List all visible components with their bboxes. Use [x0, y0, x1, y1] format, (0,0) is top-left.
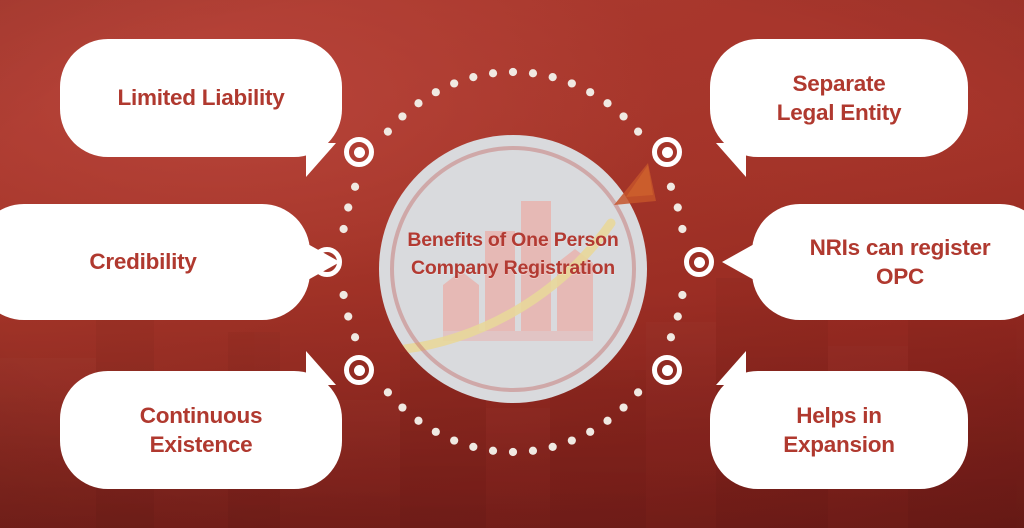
bubble-tail-left	[722, 243, 756, 281]
benefit-bubble-helps-in-expansion[interactable]: Helps in Expansion	[710, 371, 968, 489]
infographic-canvas: Benefits of One Person Company Registrat…	[0, 0, 1024, 528]
connector-ring-bottom-left	[344, 355, 374, 385]
connector-ring-top-left	[344, 137, 374, 167]
center-title: Benefits of One Person Company Registrat…	[368, 227, 658, 282]
benefit-bubble-continuous-existence[interactable]: Continuous Existence	[60, 371, 342, 489]
benefit-label-nris-can-register-opc: NRIs can register OPC	[810, 233, 991, 292]
benefit-label-limited-liability: Limited Liability	[117, 83, 284, 112]
bubble-tail-right	[306, 243, 340, 281]
bubble-tail-up-right	[306, 351, 336, 385]
benefit-bubble-credibility[interactable]: Credibility	[0, 204, 310, 320]
benefit-label-separate-legal-entity: Separate Legal Entity	[777, 69, 902, 128]
bubble-tail-up-left	[716, 351, 746, 385]
connector-ring-middle-right	[684, 247, 714, 277]
benefit-label-continuous-existence: Continuous Existence	[140, 401, 262, 460]
benefit-label-helps-in-expansion: Helps in Expansion	[783, 401, 895, 460]
connector-ring-bottom-right	[652, 355, 682, 385]
benefit-bubble-separate-legal-entity[interactable]: Separate Legal Entity	[710, 39, 968, 157]
bubble-tail-down-left	[716, 143, 746, 177]
connector-ring-top-right	[652, 137, 682, 167]
benefit-bubble-limited-liability[interactable]: Limited Liability	[60, 39, 342, 157]
bubble-tail-down-right	[306, 143, 336, 177]
benefit-bubble-nris-can-register-opc[interactable]: NRIs can register OPC	[752, 204, 1024, 320]
benefit-label-credibility: Credibility	[89, 247, 196, 276]
center-emblem: Benefits of One Person Company Registrat…	[379, 135, 647, 403]
